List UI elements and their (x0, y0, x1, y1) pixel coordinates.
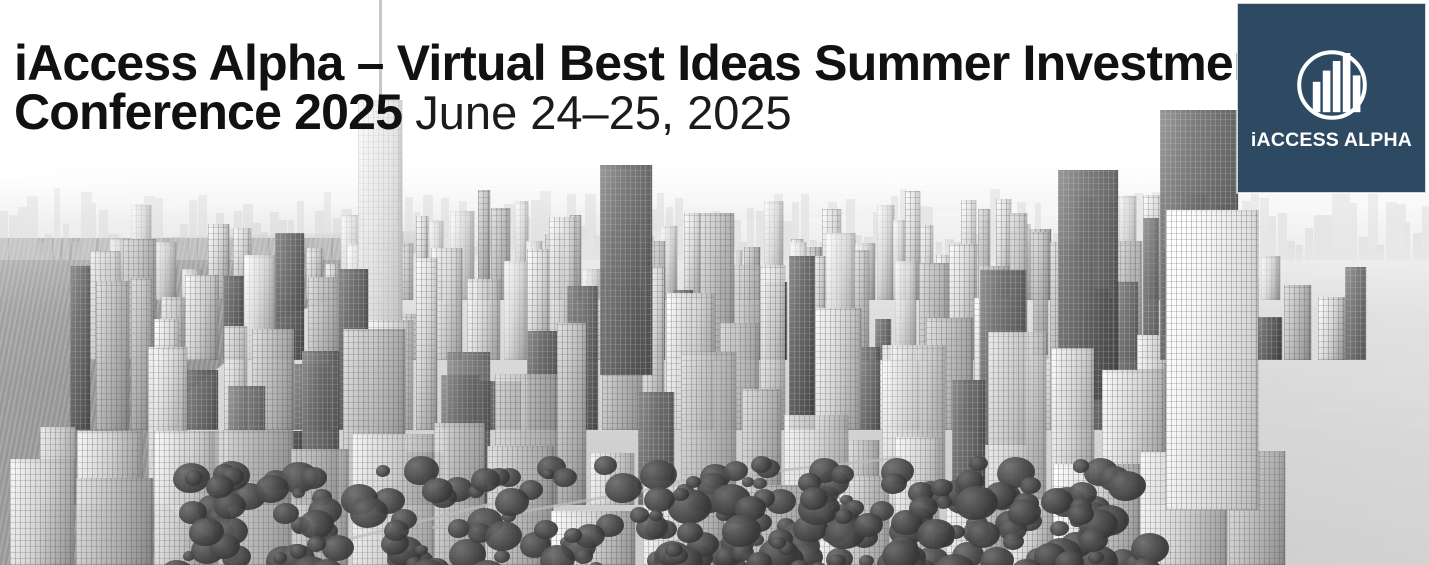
skyline-building (76, 478, 153, 565)
landmark-tower (600, 165, 652, 375)
tree-canopy (859, 555, 874, 565)
tree-canopy (969, 456, 988, 472)
conference-title-line-1: iAccess Alpha – Virtual Best Ideas Summe… (14, 40, 1164, 87)
skyline-building (96, 281, 129, 430)
tree-canopy (835, 509, 854, 524)
tree-canopy (575, 549, 593, 563)
skyline-building (815, 308, 861, 430)
skyline-building (1284, 285, 1311, 360)
tree-canopy (471, 468, 500, 492)
bar-chart-in-circle-icon (1292, 45, 1372, 125)
skyline-building (789, 256, 815, 430)
skyline-building (155, 242, 176, 300)
skyline-building (185, 275, 218, 360)
tree-canopy (494, 550, 510, 563)
tree-canopy (292, 488, 304, 498)
skyline-building (1261, 256, 1280, 300)
tree-canopy (882, 540, 920, 565)
logo-bar-3 (1332, 61, 1340, 112)
conference-dates: June 24–25, 2025 (415, 86, 791, 139)
skyline-building (467, 279, 500, 360)
tree-canopy (189, 518, 223, 546)
logo-bar-1 (1312, 81, 1320, 111)
tree-canopy (415, 545, 427, 555)
skyline-building (1318, 297, 1346, 360)
conference-banner: iAccess Alpha – Virtual Best Ideas Summe… (0, 0, 1429, 565)
tree-canopy (753, 478, 766, 489)
tree-canopy (605, 473, 642, 503)
tree-canopy (917, 519, 954, 549)
conference-title-line-2: Conference 2025 June 24–25, 2025 (14, 89, 1164, 136)
foreground-tower (1166, 210, 1258, 510)
tree-canopy (322, 535, 354, 561)
banner-title-block: iAccess Alpha – Virtual Best Ideas Summe… (14, 40, 1164, 136)
tree-canopy (828, 554, 846, 565)
tree-canopy (771, 537, 786, 549)
tree-canopy (185, 470, 204, 486)
skyline-building (70, 266, 90, 430)
skyline-building (1345, 267, 1366, 360)
skyline-building (10, 459, 74, 565)
tree-canopy (640, 460, 677, 490)
skyline-building (860, 347, 880, 430)
tree-canopy (564, 528, 582, 543)
skyline-building (416, 258, 437, 430)
skyline-building (877, 205, 894, 300)
iaccess-alpha-logo[interactable]: iACCESS ALPHA (1237, 3, 1426, 193)
skyline-building (308, 277, 340, 360)
skyline-building (504, 261, 529, 360)
tree-canopy (540, 545, 575, 565)
logo-wordmark: iACCESS ALPHA (1251, 129, 1412, 152)
conference-title-line-2-text: Conference 2025 (14, 84, 402, 140)
tree-canopy (747, 552, 772, 565)
skyline-building (684, 213, 701, 300)
logo-bar-2 (1322, 70, 1330, 112)
logo-bar-4 (1342, 53, 1350, 112)
skyline-building (1256, 317, 1282, 360)
tree-canopy (495, 488, 528, 515)
logo-bar-5 (1352, 75, 1360, 112)
tree-canopy (273, 552, 287, 563)
